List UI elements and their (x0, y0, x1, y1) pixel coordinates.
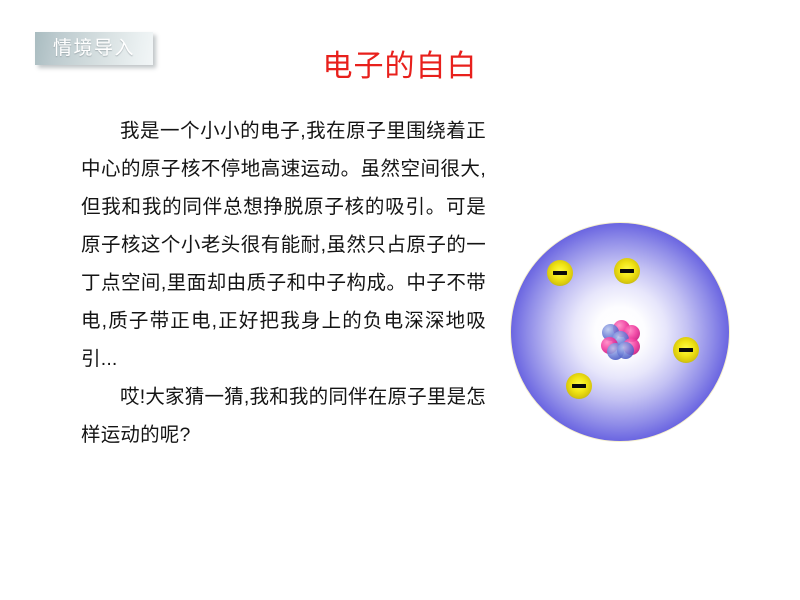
minus-sign-icon (620, 269, 634, 273)
atomic-nucleus (599, 319, 643, 363)
paragraph-2: 哎!大家猜一猜,我和我的同伴在原子里是怎样运动的呢? (81, 378, 486, 454)
electron-top-left (547, 260, 573, 286)
paragraph-1: 我是一个小小的电子,我在原子里围绕着正中心的原子核不停地高速运动。虽然空间很大,… (81, 112, 486, 378)
minus-sign-icon (572, 384, 586, 388)
neutron-particle (617, 342, 634, 359)
page-title: 电子的自白 (0, 49, 800, 85)
electron-bottom-left (566, 373, 592, 399)
minus-sign-icon (553, 271, 567, 275)
minus-sign-icon (679, 348, 693, 352)
body-text: 我是一个小小的电子,我在原子里围绕着正中心的原子核不停地高速运动。虽然空间很大,… (81, 112, 486, 454)
electron-top (614, 258, 640, 284)
slide-canvas: 情境导入 电子的自白 我是一个小小的电子,我在原子里围绕着正中心的原子核不停地高… (0, 0, 800, 600)
atom-diagram (510, 222, 732, 444)
atom-electron-cloud (510, 222, 730, 442)
electron-right (673, 337, 699, 363)
